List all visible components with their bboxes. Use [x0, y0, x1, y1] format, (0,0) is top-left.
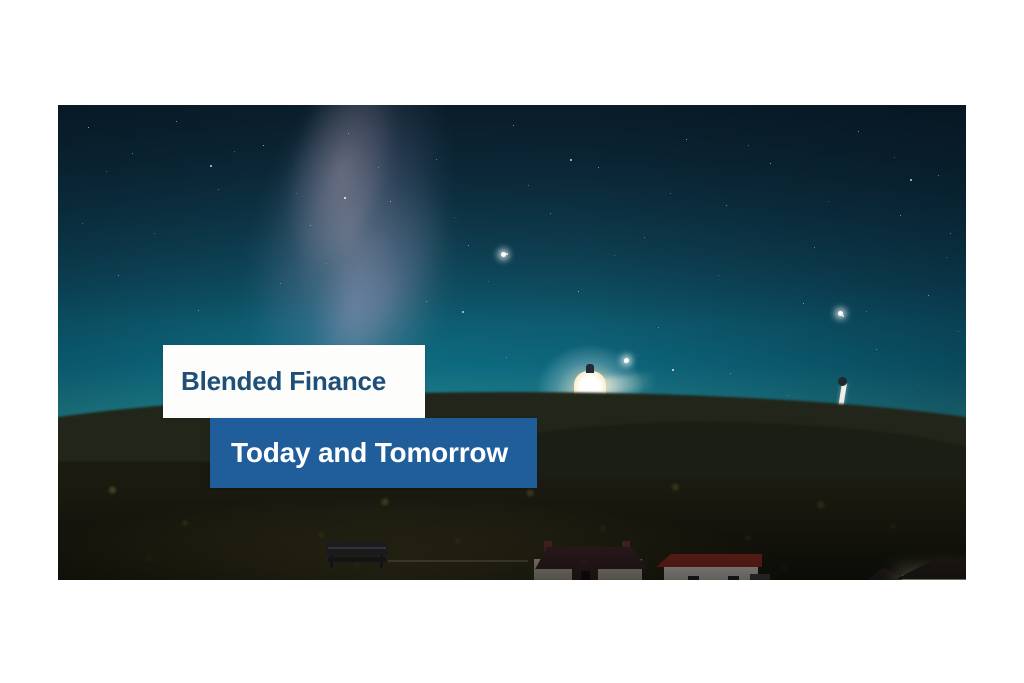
- hero-photo: Blended Finance Today and Tomorrow: [58, 105, 966, 580]
- bright-star-icon: [501, 252, 506, 257]
- page-subtitle: Today and Tomorrow: [210, 437, 508, 469]
- page-title: Blended Finance: [163, 366, 386, 397]
- bright-star-icon: [838, 311, 843, 316]
- star-field-large: [58, 105, 60, 107]
- title-box-secondary: Today and Tomorrow: [210, 418, 537, 488]
- slide-page: Blended Finance Today and Tomorrow: [0, 0, 1024, 683]
- title-box-primary: Blended Finance: [163, 345, 425, 418]
- lighthouse-cap: [586, 364, 594, 373]
- ground-shadow: [58, 490, 966, 580]
